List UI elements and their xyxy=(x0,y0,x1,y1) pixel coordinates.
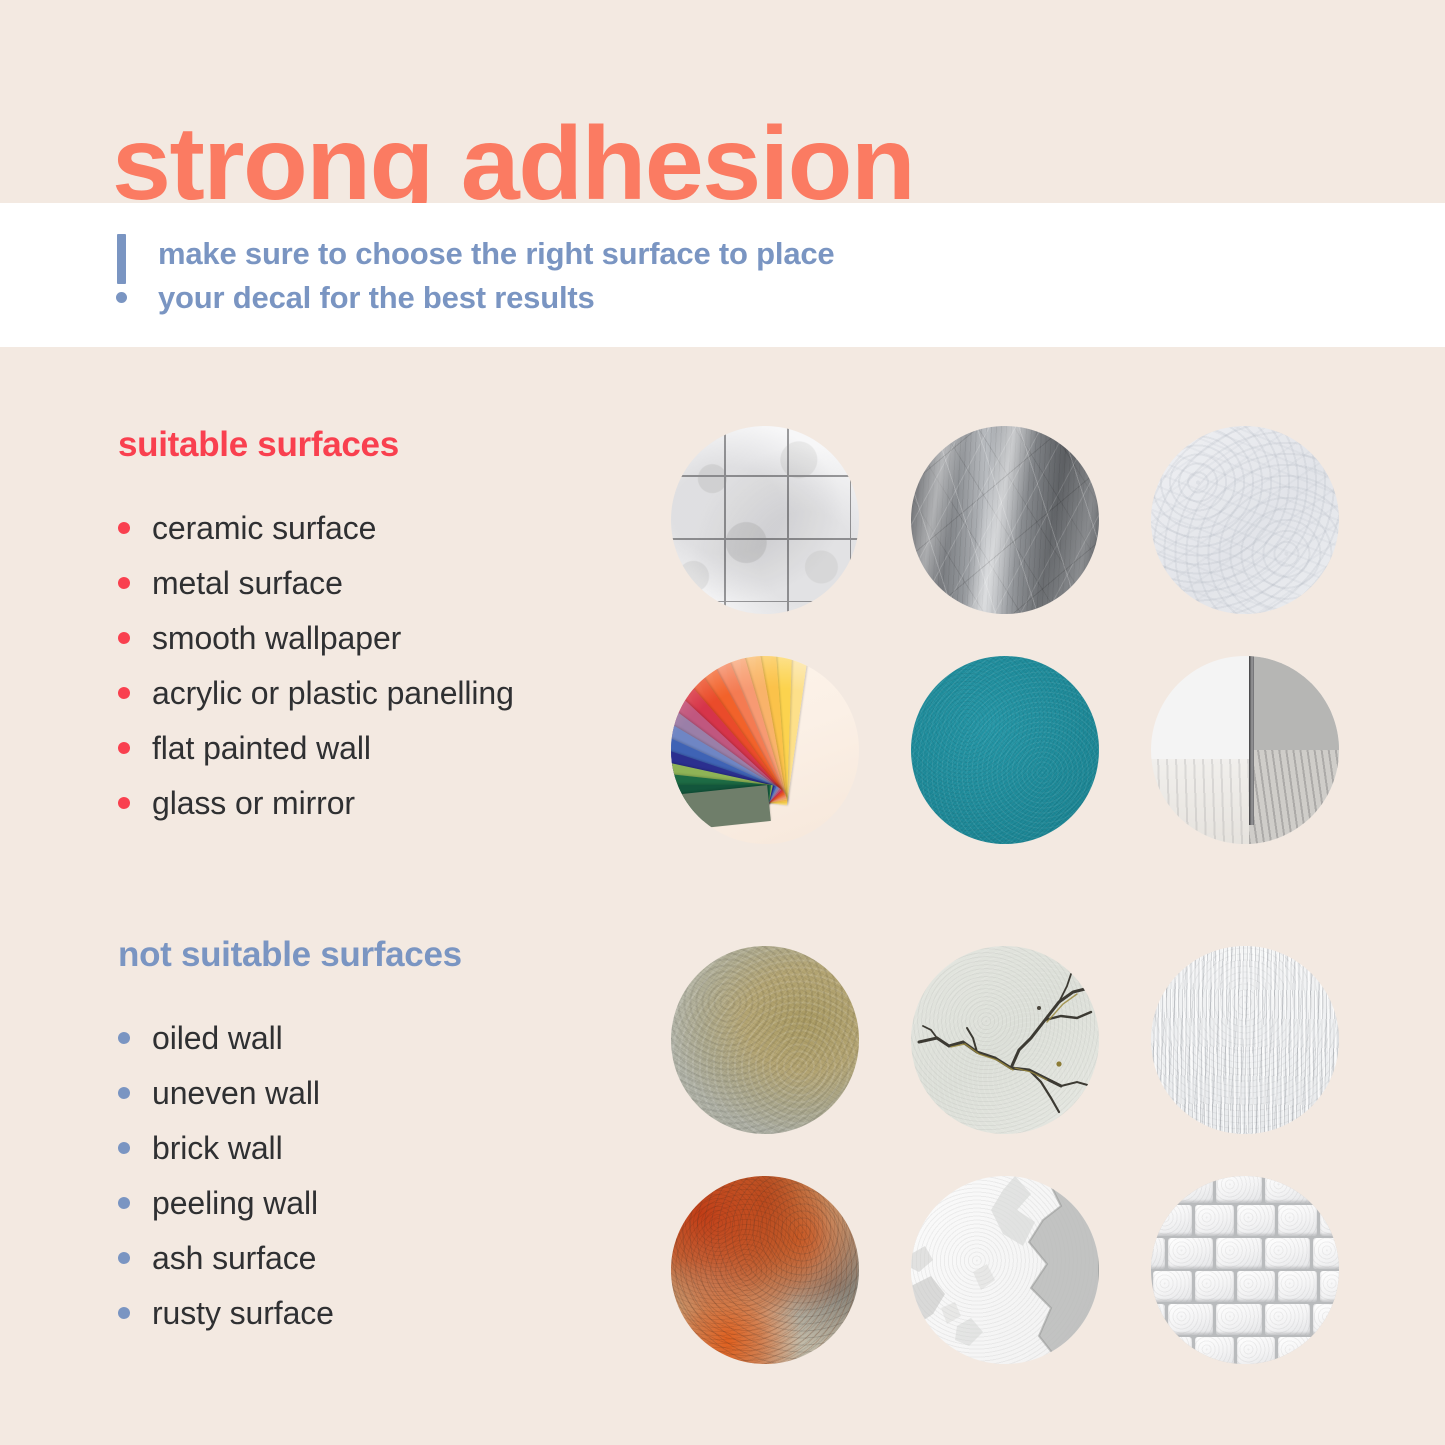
list-item-label: acrylic or plastic panelling xyxy=(152,675,514,712)
brick xyxy=(1168,1238,1214,1269)
bullet-icon xyxy=(118,742,130,754)
brick xyxy=(1278,1205,1317,1236)
peeling-wall-photo xyxy=(911,1176,1099,1364)
list-item: smooth wallpaper xyxy=(118,611,678,665)
brick xyxy=(1313,1304,1339,1335)
brick-row xyxy=(1153,1205,1339,1236)
suitable-surfaces-list: ceramic surface metal surface smooth wal… xyxy=(118,501,678,830)
uneven-wall-photo xyxy=(1151,946,1339,1134)
peel-patches xyxy=(911,1176,1099,1364)
bullet-icon xyxy=(118,1252,130,1264)
brick xyxy=(1278,1337,1317,1364)
bullet-icon xyxy=(118,1032,130,1044)
list-item-label: smooth wallpaper xyxy=(152,620,401,657)
brick-row xyxy=(1153,1271,1339,1302)
bullet-icon xyxy=(118,1307,130,1319)
brick xyxy=(1153,1337,1192,1364)
brick xyxy=(1313,1238,1339,1269)
brick xyxy=(1265,1304,1311,1335)
not-suitable-surfaces-list: oiled wall uneven wall brick wall peelin… xyxy=(118,1011,678,1340)
brick xyxy=(1195,1337,1234,1364)
brick xyxy=(1151,1238,1165,1269)
brick xyxy=(1320,1271,1339,1302)
list-item: rusty surface xyxy=(118,1286,678,1340)
brick xyxy=(1216,1304,1262,1335)
list-item: glass or mirror xyxy=(118,776,678,830)
brick xyxy=(1313,1176,1339,1203)
list-item: uneven wall xyxy=(118,1066,678,1120)
list-item: peeling wall xyxy=(118,1176,678,1230)
metal-surface-photo xyxy=(911,426,1099,614)
smooth-wallpaper-photo xyxy=(1151,426,1339,614)
brick xyxy=(1237,1337,1276,1364)
brick xyxy=(1237,1271,1276,1302)
brick xyxy=(1216,1176,1262,1203)
flat-painted-wall-photo xyxy=(911,656,1099,844)
brick-row xyxy=(1151,1304,1339,1335)
brick xyxy=(1168,1304,1214,1335)
brick xyxy=(1265,1176,1311,1203)
bullet-icon xyxy=(118,577,130,589)
oiled-wall-photo xyxy=(671,946,859,1134)
list-item-label: uneven wall xyxy=(152,1075,320,1112)
rusty-surface-photo xyxy=(671,1176,859,1364)
bullet-icon xyxy=(118,687,130,699)
brick xyxy=(1195,1205,1234,1236)
list-item-label: brick wall xyxy=(152,1130,283,1167)
list-item: acrylic or plastic panelling xyxy=(118,666,678,720)
brick-row xyxy=(1151,1238,1339,1269)
list-item-label: peeling wall xyxy=(152,1185,318,1222)
brick xyxy=(1265,1238,1311,1269)
brick xyxy=(1151,1304,1165,1335)
brick xyxy=(1195,1271,1234,1302)
list-item-label: oiled wall xyxy=(152,1020,283,1057)
list-item: flat painted wall xyxy=(118,721,678,775)
list-item-label: ash surface xyxy=(152,1240,316,1277)
brick-wall-photo xyxy=(1151,1176,1339,1364)
acrylic-fan-blade xyxy=(671,785,771,840)
list-item: brick wall xyxy=(118,1121,678,1175)
cracked-wall-photo xyxy=(911,946,1099,1134)
not-suitable-surfaces-section: not suitable surfaces oiled wall uneven … xyxy=(118,935,678,1341)
brick xyxy=(1151,1176,1165,1203)
brick xyxy=(1216,1238,1262,1269)
list-item-label: metal surface xyxy=(152,565,343,602)
bullet-icon xyxy=(118,797,130,809)
list-item-label: ceramic surface xyxy=(152,510,376,547)
subtitle-block: make sure to choose the right surface to… xyxy=(112,232,834,320)
mirror-pane xyxy=(1249,656,1339,844)
list-item: ceramic surface xyxy=(118,501,678,555)
brick xyxy=(1320,1337,1339,1364)
exclamation-icon xyxy=(112,234,136,303)
suitable-surfaces-image-grid xyxy=(671,426,1339,844)
acrylic-panelling-photo xyxy=(671,656,859,844)
suitable-surfaces-heading: suitable surfaces xyxy=(118,425,678,465)
suitable-surfaces-section: suitable surfaces ceramic surface metal … xyxy=(118,425,678,831)
list-item-label: glass or mirror xyxy=(152,785,355,822)
bullet-icon xyxy=(118,1142,130,1154)
glass-mirror-photo xyxy=(1151,656,1339,844)
not-suitable-surfaces-heading: not suitable surfaces xyxy=(118,935,678,975)
brick xyxy=(1237,1205,1276,1236)
list-item-label: rusty surface xyxy=(152,1295,334,1332)
bullet-icon xyxy=(118,522,130,534)
brick-row xyxy=(1151,1176,1339,1203)
crack-lines xyxy=(911,946,1099,1134)
list-item: ash surface xyxy=(118,1231,678,1285)
subtitle-text: make sure to choose the right surface to… xyxy=(158,232,834,320)
list-item-label: flat painted wall xyxy=(152,730,371,767)
brick xyxy=(1153,1271,1192,1302)
brick xyxy=(1168,1176,1214,1203)
not-suitable-surfaces-image-grid xyxy=(671,946,1339,1364)
bullet-icon xyxy=(118,632,130,644)
brick xyxy=(1320,1205,1339,1236)
ceramic-tile-photo xyxy=(671,426,859,614)
brick-row xyxy=(1153,1337,1339,1364)
bullet-icon xyxy=(118,1197,130,1209)
page-title: strong adhesion xyxy=(112,112,914,216)
list-item: metal surface xyxy=(118,556,678,610)
brick xyxy=(1278,1271,1317,1302)
bullet-icon xyxy=(118,1087,130,1099)
list-item: oiled wall xyxy=(118,1011,678,1065)
brick xyxy=(1153,1205,1192,1236)
